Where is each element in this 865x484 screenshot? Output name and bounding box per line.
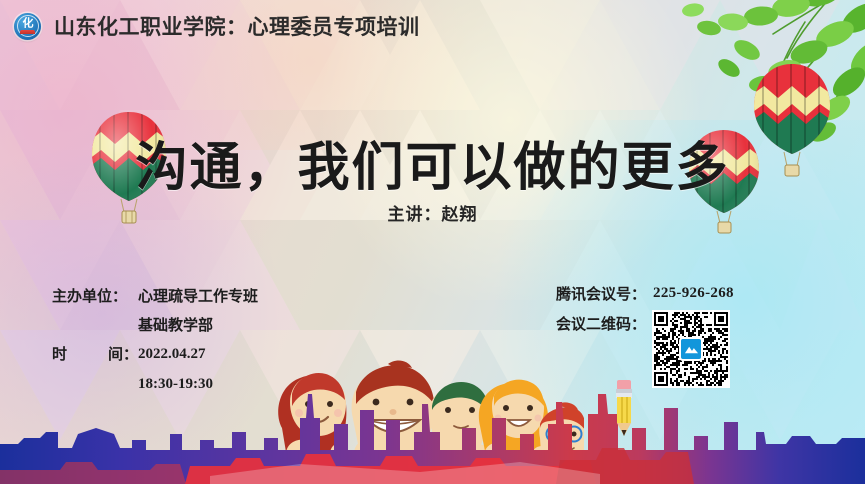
organizer-label: 主办单位： [52, 282, 138, 311]
speaker-line: 主讲：赵翔 [0, 200, 865, 225]
child-4 [479, 380, 548, 484]
logo-wave [20, 30, 35, 34]
qrcode-label: 会议二维码： [556, 313, 646, 334]
child-1 [278, 373, 350, 484]
organizer-row: 主办单位： 心理疏导工作专班 [52, 282, 258, 311]
meeting-details-right: 腾讯会议号： 225-926-268 会议二维码： [556, 283, 734, 388]
time-label-char-1: 时 [52, 340, 67, 369]
tencent-meeting-glyph [684, 342, 699, 357]
meeting-number-label: 腾讯会议号： [556, 283, 646, 304]
meeting-number-value: 225-926-268 [653, 285, 734, 302]
time-row: 时 间： 2022.04.27 [52, 340, 258, 369]
school-logo-icon: 化 [14, 13, 41, 40]
page-title: 沟通，我们可以做的更多 [0, 125, 865, 200]
pencil-svg [612, 380, 636, 438]
header-title: 山东化工职业学院：心理委员专项培训 [54, 11, 420, 41]
tencent-meeting-icon [679, 337, 703, 361]
qrcode-row: 会议二维码： [556, 313, 734, 388]
time-label-char-2: 间： [108, 340, 138, 369]
time-date-value: 2022.04.27 [138, 340, 206, 369]
meeting-number-row: 腾讯会议号： 225-926-268 [556, 283, 734, 304]
meeting-qr-code[interactable] [652, 310, 730, 388]
time-range-value: 18:30-19:30 [138, 376, 213, 392]
logo-monogram: 化 [23, 19, 33, 30]
time-row-2: 18:30-19:30 [52, 369, 258, 399]
child-3 [429, 382, 488, 484]
child-2 [352, 361, 435, 484]
background-polygon-texture [0, 0, 865, 484]
poster-canvas: 化 山东化工职业学院：心理委员专项培训 沟通，我们可以做的更多 主讲：赵翔 主办… [0, 0, 865, 484]
city-skyline [0, 388, 865, 484]
pencil-decoration [612, 380, 636, 438]
organizer-value-2: 基础教学部 [138, 317, 213, 334]
children-svg [268, 358, 584, 484]
child-5 [539, 402, 584, 468]
polygon-svg [0, 0, 865, 484]
organizer-row-2: 基础教学部 [52, 311, 258, 340]
organizer-value-1: 心理疏导工作专班 [138, 282, 258, 311]
children-illustration [268, 358, 584, 484]
time-label: 时 间： [52, 340, 138, 369]
skyline-svg [0, 388, 865, 484]
event-details-left: 主办单位： 心理疏导工作专班 基础教学部 时 间： 2022.04.27 18:… [52, 282, 258, 399]
header: 化 山东化工职业学院：心理委员专项培训 [0, 0, 420, 52]
